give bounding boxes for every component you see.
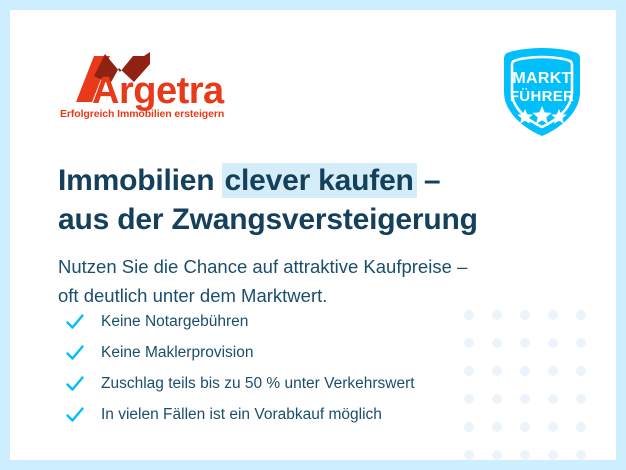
benefit-label: Keine Notargebühren <box>101 312 248 332</box>
decorative-dot <box>520 310 530 320</box>
check-icon <box>65 312 85 332</box>
benefit-label: In vielen Fällen ist ein Vorabkauf mögli… <box>101 405 382 425</box>
decorative-dot <box>576 422 586 432</box>
headline-line-1: Immobilien clever kaufen – <box>58 161 478 200</box>
decorative-dot <box>576 450 586 460</box>
decorative-dot <box>548 338 558 348</box>
decorative-dot <box>576 310 586 320</box>
decorative-dot <box>492 338 502 348</box>
decorative-dot <box>464 422 474 432</box>
decorative-dot <box>492 422 502 432</box>
decorative-dot <box>548 450 558 460</box>
benefit-item: Zuschlag teils bis zu 50 % unter Verkehr… <box>65 369 415 398</box>
benefit-item: Keine Maklerprovision <box>65 338 415 367</box>
decorative-dot <box>520 338 530 348</box>
decorative-dot <box>576 366 586 376</box>
decorative-dot <box>492 450 502 460</box>
decorative-dot <box>520 422 530 432</box>
decorative-dot <box>576 394 586 404</box>
decorative-dot <box>464 450 474 460</box>
check-icon <box>65 374 85 394</box>
banner-canvas: Argetra Erfolgreich Immobilien ersteiger… <box>10 10 616 460</box>
subheadline: Nutzen Sie die Chance auf attraktive Kau… <box>58 252 467 310</box>
decorative-dot <box>520 450 530 460</box>
logo-wordmark: Argetra <box>92 70 225 112</box>
decorative-dot <box>464 366 474 376</box>
headline-line-2: aus der Zwangsversteigerung <box>58 200 478 239</box>
badge-line-1: MARKT <box>512 70 571 87</box>
decorative-dot <box>548 394 558 404</box>
decorative-dot <box>464 310 474 320</box>
decorative-dot <box>548 310 558 320</box>
headline-suffix: – <box>416 164 441 197</box>
headline-prefix: Immobilien <box>58 164 223 197</box>
logo-tagline: Erfolgreich Immobilien ersteigern <box>60 108 224 120</box>
dot-grid-decoration <box>464 310 604 460</box>
decorative-dot <box>576 338 586 348</box>
decorative-dot <box>520 394 530 404</box>
badge-line-2: FÜHRER <box>510 88 574 105</box>
shield-badge-icon: MARKT FÜHRER <box>499 46 585 138</box>
benefit-label: Zuschlag teils bis zu 50 % unter Verkehr… <box>101 374 415 394</box>
decorative-dot <box>464 394 474 404</box>
market-leader-badge: MARKT FÜHRER <box>499 46 585 138</box>
decorative-dot <box>492 310 502 320</box>
decorative-dot <box>492 366 502 376</box>
benefit-item: In vielen Fällen ist ein Vorabkauf mögli… <box>65 400 415 429</box>
headline: Immobilien clever kaufen – aus der Zwang… <box>58 161 478 239</box>
promo-banner: Argetra Erfolgreich Immobilien ersteiger… <box>0 0 626 470</box>
benefits-list: Keine NotargebührenKeine Maklerprovision… <box>65 307 415 431</box>
check-icon <box>65 405 85 425</box>
check-icon <box>65 343 85 363</box>
decorative-dot <box>548 366 558 376</box>
decorative-dot <box>520 366 530 376</box>
argetra-logo: Argetra Erfolgreich Immobilien ersteiger… <box>58 50 288 122</box>
headline-highlight: clever kaufen <box>222 163 417 198</box>
benefit-label: Keine Maklerprovision <box>101 343 254 363</box>
decorative-dot <box>492 394 502 404</box>
subheadline-line-2: oft deutlich unter dem Marktwert. <box>58 281 467 310</box>
decorative-dot <box>464 338 474 348</box>
decorative-dot <box>548 422 558 432</box>
subheadline-line-1: Nutzen Sie die Chance auf attraktive Kau… <box>58 252 467 281</box>
benefit-item: Keine Notargebühren <box>65 307 415 336</box>
argetra-logo-icon: Argetra Erfolgreich Immobilien ersteiger… <box>58 50 288 122</box>
